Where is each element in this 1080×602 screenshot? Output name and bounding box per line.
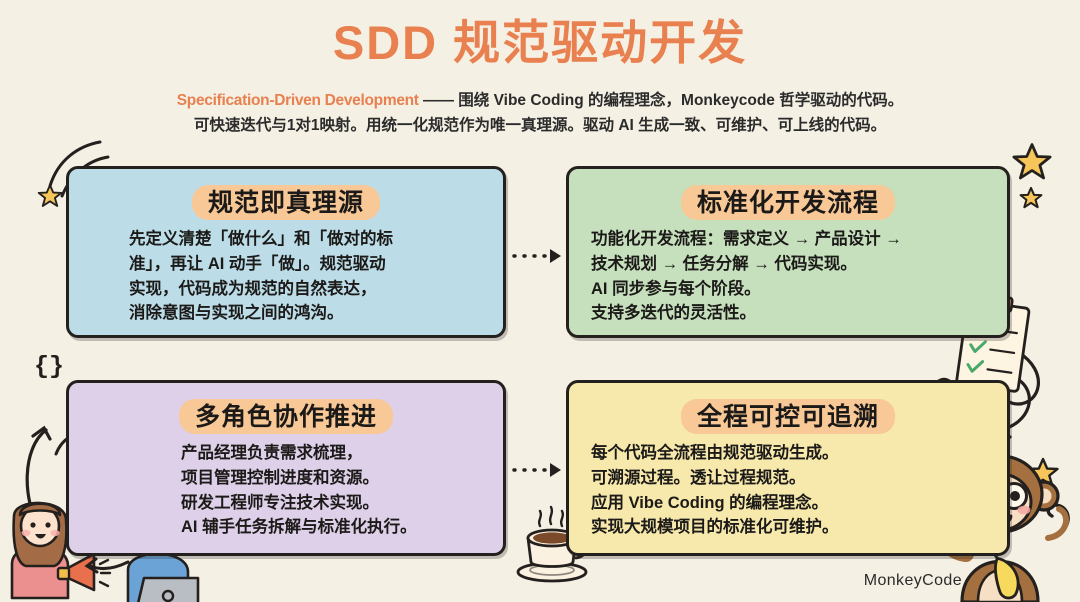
card-4-body: 每个代码全流程由规范驱动生成。 可溯源过程。透让过程规范。 应用 Vibe Co… <box>587 441 989 540</box>
brand-label: MonkeyCode <box>864 572 962 590</box>
card-1-title: 规范即真理源 <box>192 181 380 222</box>
card-3-line-3: 研发工程师专注技术实现。 <box>181 491 485 516</box>
card-4-line-3: 应用 Vibe Coding 的编程理念。 <box>591 491 983 516</box>
card-1-line-1: 先定义清楚「做什么」和「做对的标 <box>129 227 477 252</box>
card-2-line-1: 功能化开发流程：需求定义 → 产品设计 → <box>591 227 935 252</box>
flow-arrow-left <box>27 428 50 528</box>
card-4-line-1: 每个代码全流程由规范驱动生成。 <box>591 441 983 466</box>
card-3-title: 多角色协作推进 <box>179 395 393 436</box>
steam-lines <box>539 507 563 526</box>
card-spec-as-source-of-truth[interactable]: 规范即真理源 先定义清楚「做什么」和「做对的标 准」，再让 AI 动手「做」。规… <box>66 166 506 338</box>
card-2-header: 标准化开发流程 <box>587 183 989 219</box>
card-1-body: 先定义清楚「做什么」和「做对的标 准」，再让 AI 动手「做」。规范驱动 实现，… <box>87 227 485 326</box>
subtitle-line-1: Specification-Driven Development —— 围绕 V… <box>0 88 1080 113</box>
card-3-line-1: 产品经理负责需求梳理， <box>181 441 485 466</box>
card-1-header: 规范即真理源 <box>87 183 485 219</box>
page-title: SDD 规范驱动开发 <box>0 14 1080 73</box>
star-icon-right-small <box>1021 188 1042 207</box>
card-1-line-4: 消除意图与实现之间的鸿沟。 <box>129 301 477 326</box>
card-3-line-4: AI 辅手任务拆解与标准化执行。 <box>181 515 485 540</box>
card-4-line-2: 可溯源过程。透让过程规范。 <box>591 466 983 491</box>
subtitle-line-2: 可快速迭代与1对1映射。用统一化规范作为唯一真理源。驱动 AI 生成一致、可维护… <box>0 113 1080 138</box>
card-3-line-2: 项目管理控制进度和资源。 <box>181 466 485 491</box>
card-3-header: 多角色协作推进 <box>87 397 485 433</box>
card-1-line-2: 准」，再让 AI 动手「做」。规范驱动 <box>129 252 477 277</box>
star-icon-top-right <box>1014 145 1050 179</box>
connector-arrow-top <box>514 249 561 263</box>
card-2-line-2: 技术规划 → 任务分解 → 代码实现。 <box>591 252 935 277</box>
connector-arrow-bottom <box>514 463 561 477</box>
infographic-canvas: SDD 规范驱动开发 Specification-Driven Developm… <box>0 0 1080 602</box>
card-4-line-4: 实现大规模项目的标准化可维护。 <box>591 515 983 540</box>
banana-icon <box>988 549 1023 601</box>
subtitle-block: Specification-Driven Development —— 围绕 V… <box>0 88 1080 138</box>
card-2-title: 标准化开发流程 <box>681 181 895 222</box>
card-3-body: 产品经理负责需求梳理， 项目管理控制进度和资源。 研发工程师专注技术实现。 AI… <box>87 441 485 540</box>
card-standardized-dev-process[interactable]: 标准化开发流程 功能化开发流程：需求定义 → 产品设计 → 技术规划 → 任务分… <box>566 166 1010 338</box>
card-fully-traceable[interactable]: 全程可控可追溯 每个代码全流程由规范驱动生成。 可溯源过程。透让过程规范。 应用… <box>566 380 1010 556</box>
subtitle-line-1-rest: —— 围绕 Vibe Coding 的编程理念，Monkeycode 哲学驱动的… <box>419 92 904 109</box>
card-1-line-3: 实现，代码成为规范的自然表达， <box>129 277 477 302</box>
subtitle-english: Specification-Driven Development <box>177 92 419 109</box>
laptop-icon <box>128 578 210 602</box>
card-2-line-4: 支持多迭代的灵活性。 <box>591 301 935 326</box>
star-icon-left <box>39 185 62 206</box>
card-4-title: 全程可控可追溯 <box>681 395 895 436</box>
card-4-header: 全程可控可追溯 <box>587 397 989 433</box>
card-multi-role-collaboration[interactable]: 多角色协作推进 产品经理负责需求梳理， 项目管理控制进度和资源。 研发工程师专注… <box>66 380 506 556</box>
card-2-body: 功能化开发流程：需求定义 → 产品设计 → 技术规划 → 任务分解 → 代码实现… <box>587 227 989 326</box>
star-icon-bottom-right <box>1029 459 1058 486</box>
card-2-line-3: AI 同步参与每个阶段。 <box>591 277 935 302</box>
curly-braces-decoration: {} <box>34 352 64 381</box>
